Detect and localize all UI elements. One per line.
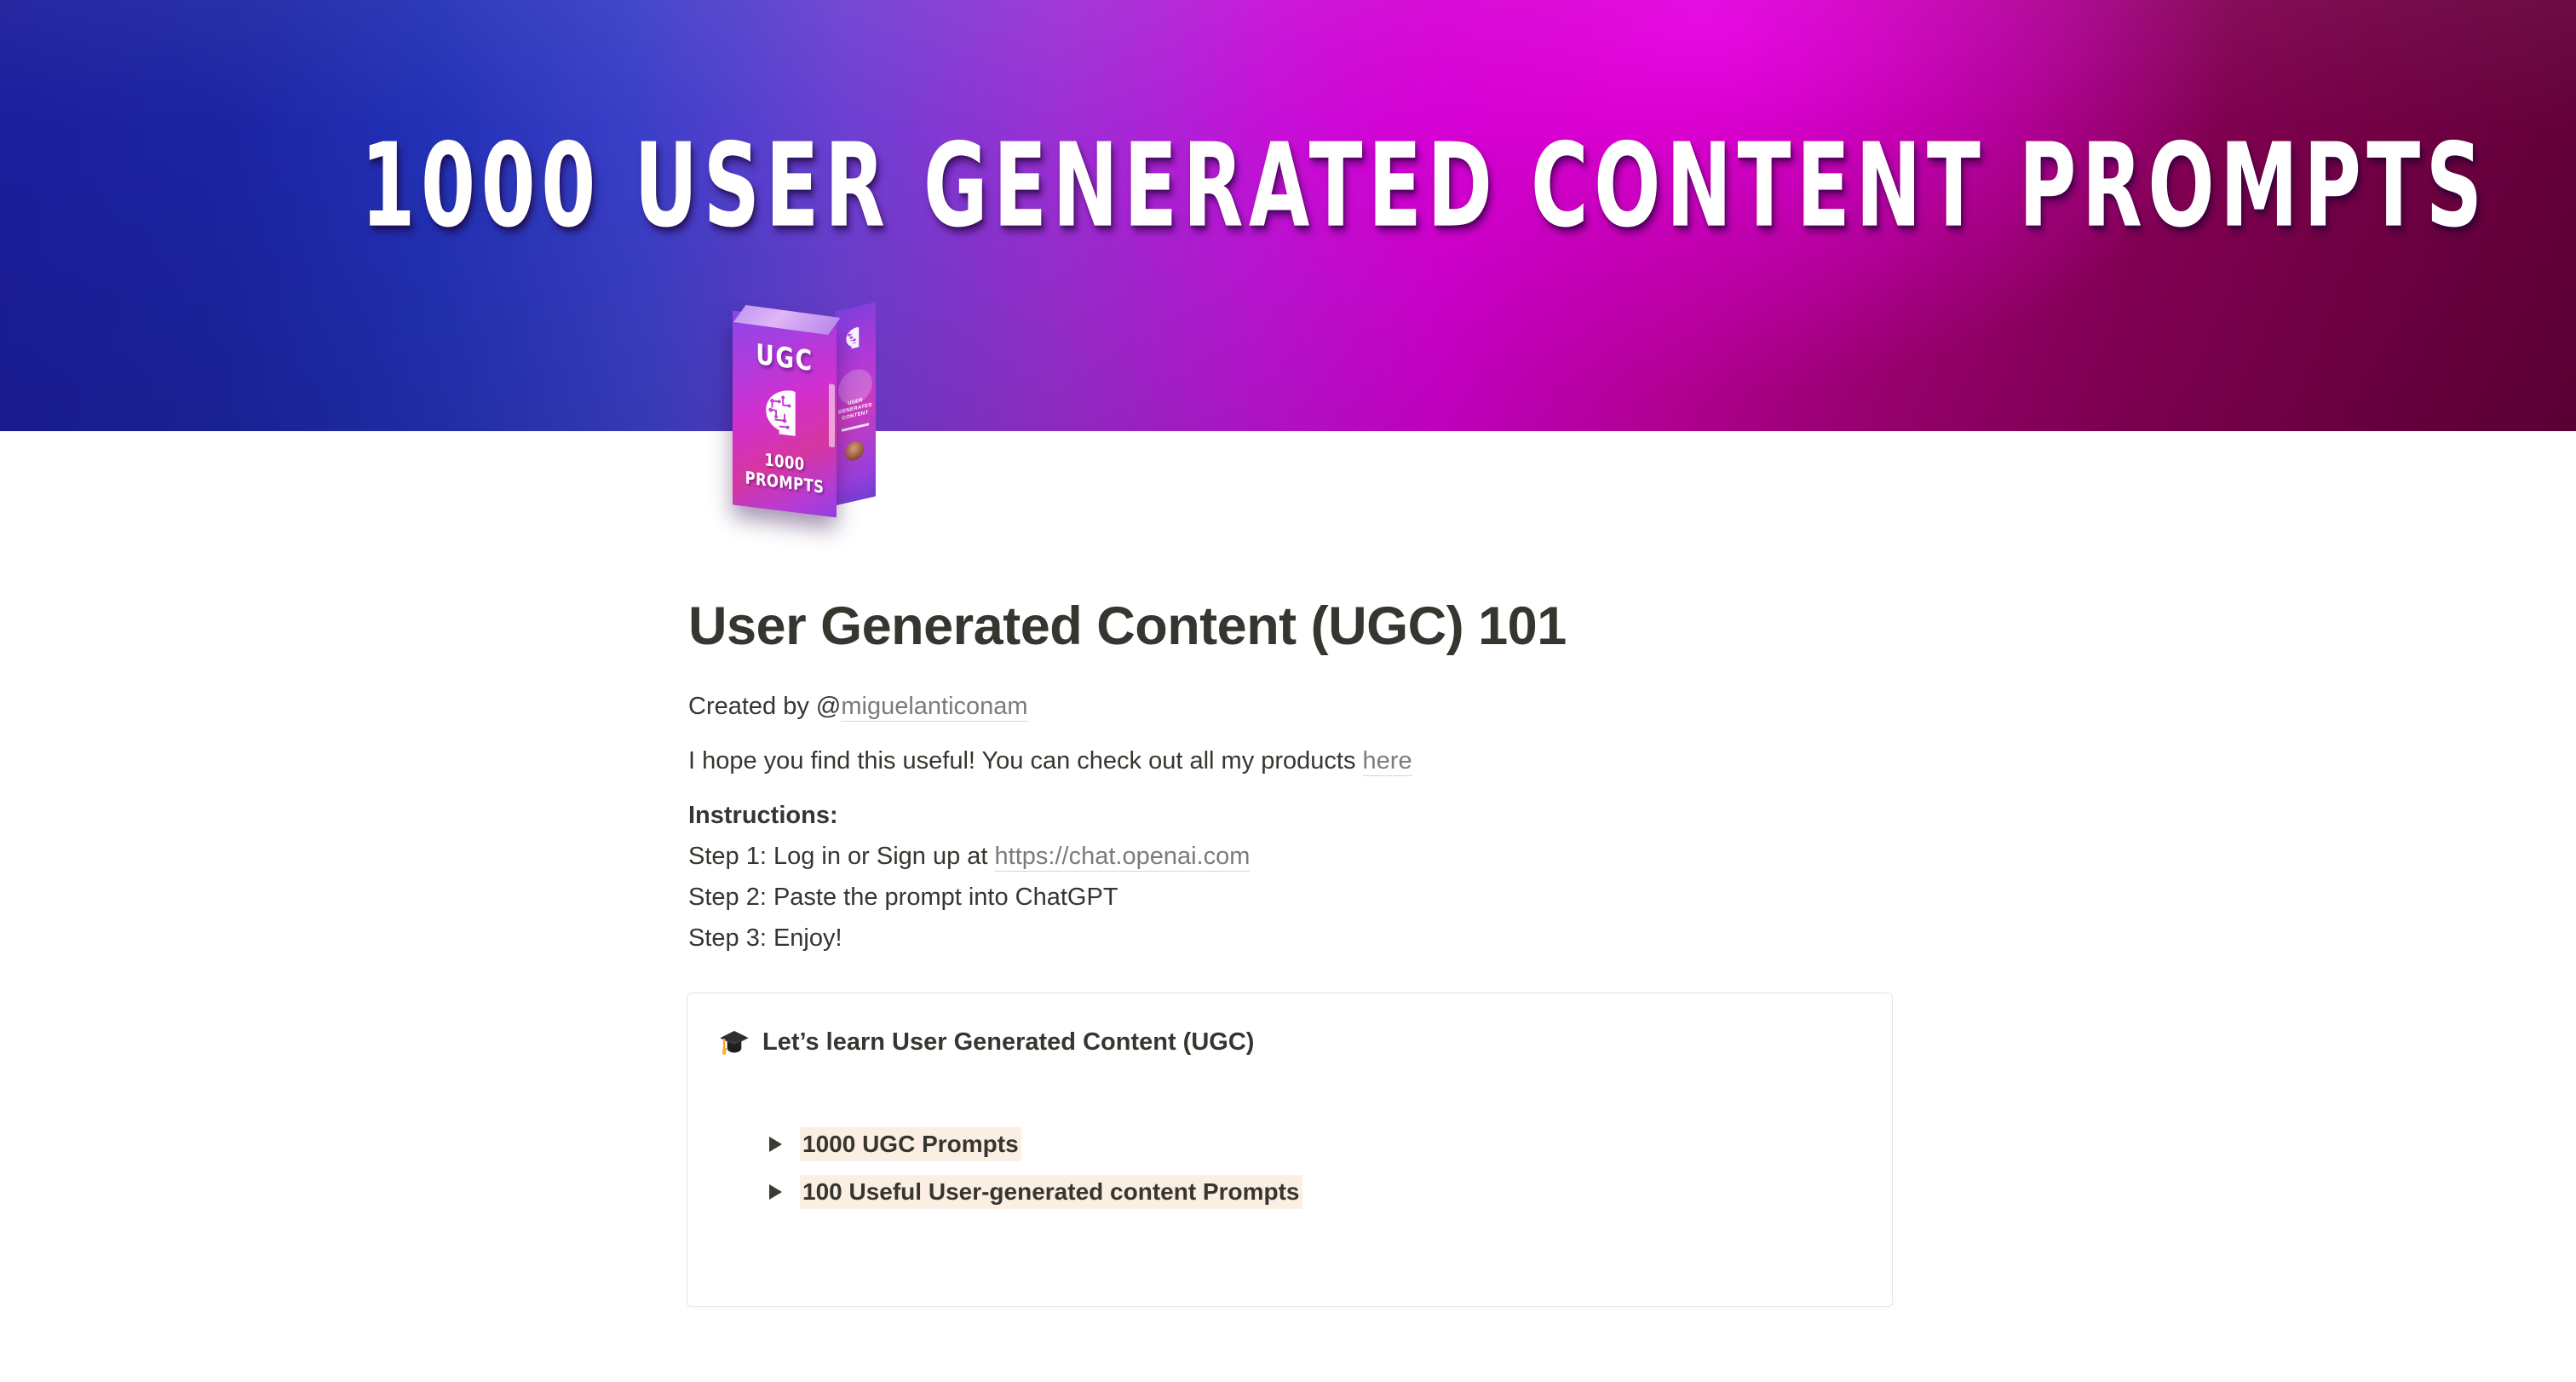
toggle-item[interactable]: 1000 UGC Prompts (766, 1126, 1788, 1162)
box-ugc-label: UGC (743, 336, 826, 379)
intro-paragraph: I hope you find this useful! You can che… (688, 740, 1893, 781)
toggle-label[interactable]: 100 Useful User-generated content Prompt… (800, 1175, 1302, 1209)
page-content: User Generated Content (UGC) 101 Created… (688, 596, 1893, 959)
callout-heading: Let’s learn User Generated Content (UGC) (762, 1026, 1254, 1058)
spine-avatar (845, 440, 864, 463)
box-front: UGC (733, 311, 837, 518)
instruction-step-1: Step 1: Log in or Sign up at https://cha… (688, 836, 1893, 877)
toggle-list: 1000 UGC Prompts 100 Useful User-generat… (766, 1126, 1788, 1222)
box-prompts-label: 1000 PROMPTS (742, 446, 827, 498)
instruction-step-3: Step 3: Enjoy! (688, 918, 1893, 959)
callout-card: Let’s learn User Generated Content (UGC)… (687, 993, 1893, 1307)
chatgpt-url-link[interactable]: https://chat.openai.com (995, 843, 1251, 872)
brain-circuit-icon (842, 323, 866, 352)
brain-circuit-icon (760, 383, 809, 439)
byline: Created by @miguelanticonam (688, 686, 1893, 727)
author-handle-link[interactable]: miguelanticonam (841, 693, 1027, 722)
instruction-step-2: Step 2: Paste the prompt into ChatGPT (688, 877, 1893, 918)
byline-prefix: Created by @ (688, 693, 841, 720)
page-title: User Generated Content (UGC) 101 (688, 596, 1893, 657)
ugc-product-box-icon[interactable]: USER GENERATED CONTENT UGC (726, 307, 888, 518)
cover-banner-text: 1000 USER GENERATED CONTENT PROMPTS (360, 129, 2215, 245)
box-front-strip (829, 383, 835, 447)
toggle-item[interactable]: 100 Useful User-generated content Prompt… (766, 1174, 1788, 1210)
step-1-text: Step 1: Log in or Sign up at (688, 843, 995, 870)
toggle-label[interactable]: 1000 UGC Prompts (800, 1127, 1021, 1161)
cover-image[interactable]: 1000 USER GENERATED CONTENT PROMPTS (0, 0, 2576, 431)
triangle-right-icon[interactable] (769, 1137, 782, 1152)
spine-rule (842, 423, 869, 431)
products-here-link[interactable]: here (1363, 747, 1412, 776)
callout-header: Let’s learn User Generated Content (UGC) (718, 1026, 1254, 1058)
instructions-label: Instructions: (688, 795, 1893, 836)
graduation-cap-icon (718, 1026, 750, 1058)
notion-page: 1000 USER GENERATED CONTENT PROMPTS USER… (0, 0, 2576, 1382)
triangle-right-icon[interactable] (769, 1184, 782, 1200)
box-spine: USER GENERATED CONTENT (835, 302, 876, 505)
intro-text: I hope you find this useful! You can che… (688, 747, 1363, 774)
